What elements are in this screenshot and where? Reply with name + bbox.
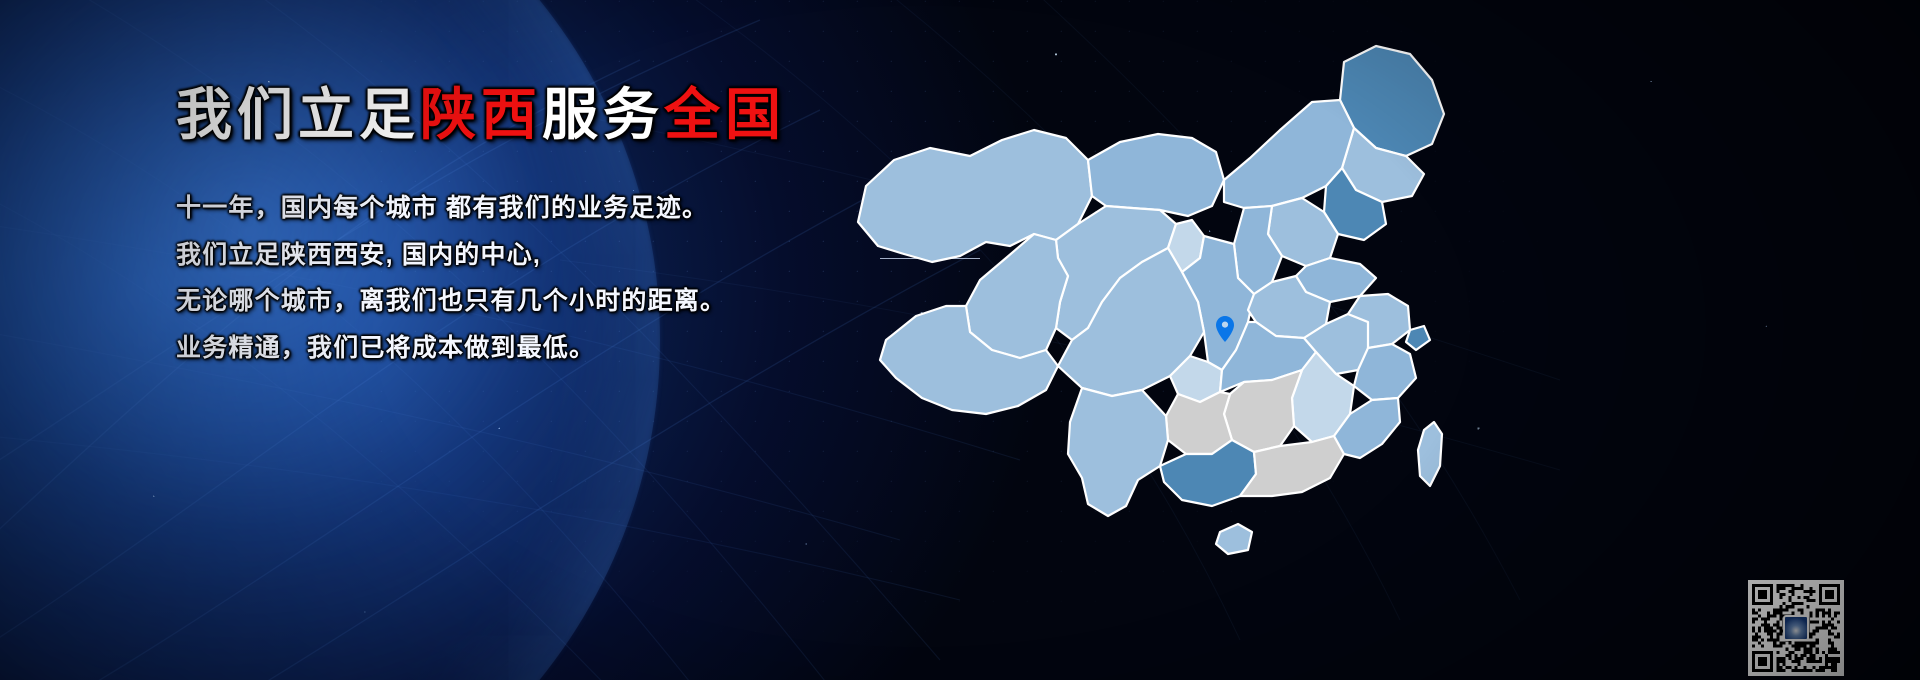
qr-code[interactable] [1748, 580, 1844, 676]
body-line-3: 无论哪个城市，离我们也只有几个小时的距离。 [176, 278, 876, 325]
headline-segment-4: 全国 [664, 83, 786, 146]
province-guizhou [1166, 392, 1232, 454]
china-map [820, 10, 1560, 570]
province-taiwan [1418, 422, 1442, 486]
body-line-4: 业务精通，我们已将成本做到最低。 [176, 325, 876, 372]
copy-block: 我们立足陕西服务全国 十一年，国内每个城市 都有我们的业务足迹。 我们立足陕西西… [176, 86, 876, 372]
map-marker-pin[interactable] [1216, 316, 1234, 342]
province-yunnan [1068, 388, 1168, 516]
headline-segment-2: 陕西 [420, 83, 542, 146]
province-shanghai [1406, 326, 1430, 350]
headline-segment-3: 服务 [542, 83, 664, 146]
promo-banner: 我们立足陕西服务全国 十一年，国内每个城市 都有我们的业务足迹。 我们立足陕西西… [0, 0, 1920, 680]
province-inner-mongolia-west [1088, 134, 1224, 216]
qr-center-logo-icon [1783, 615, 1809, 641]
province-hainan [1216, 524, 1252, 554]
province-qinghai [966, 234, 1068, 358]
page-title: 我们立足陕西服务全国 [176, 86, 876, 145]
body-copy: 十一年，国内每个城市 都有我们的业务足迹。 我们立足陕西西安, 国内的中心, 无… [176, 185, 876, 372]
body-line-1: 十一年，国内每个城市 都有我们的业务足迹。 [176, 185, 876, 232]
headline-segment-1: 我们立足 [176, 83, 420, 146]
body-line-2: 我们立足陕西西安, 国内的中心, [176, 232, 876, 279]
